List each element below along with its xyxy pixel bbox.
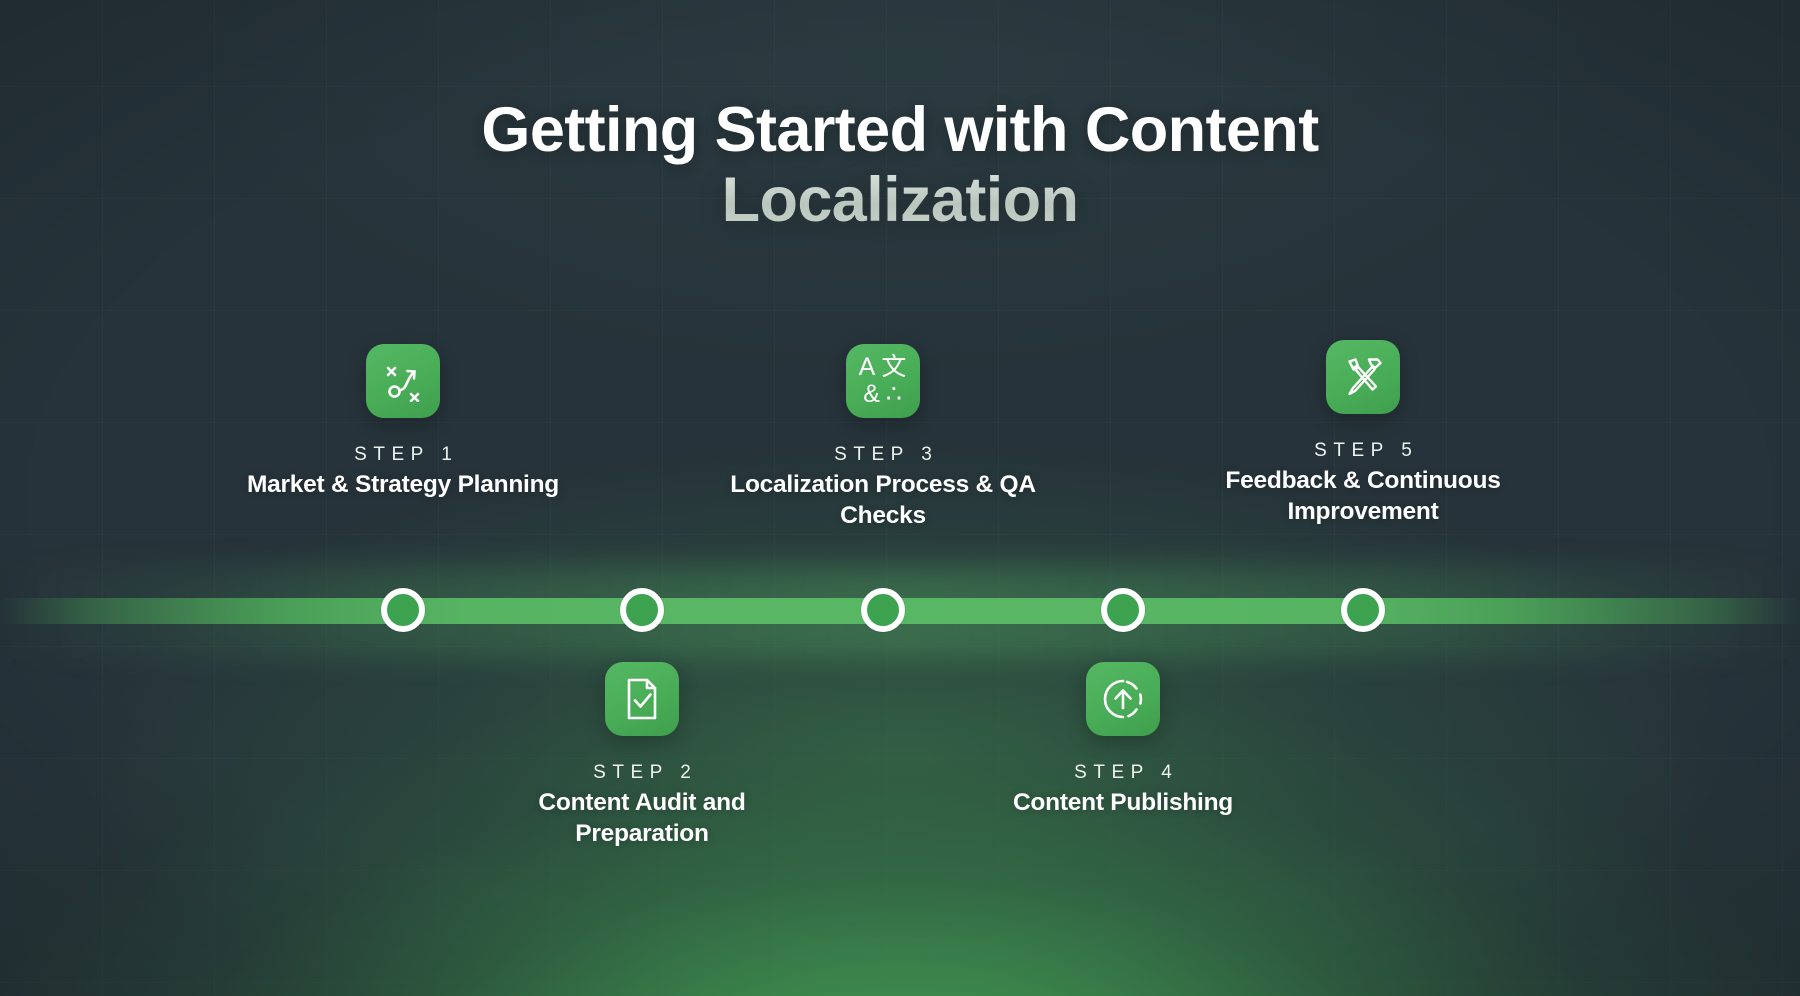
title-line-1: Getting Started with Content bbox=[0, 96, 1800, 164]
step-title-5: Feedback & Continuous Improvement bbox=[1193, 466, 1533, 528]
step-number-2: STEP 2 bbox=[472, 762, 812, 784]
step-title-4: Content Publishing bbox=[953, 788, 1293, 819]
translate-glyph-latin: A bbox=[859, 355, 877, 380]
timeline-node-1[interactable] bbox=[381, 588, 425, 632]
step-number-3: STEP 3 bbox=[713, 444, 1053, 466]
timeline-node-5[interactable] bbox=[1341, 588, 1385, 632]
strategy-play-icon bbox=[366, 344, 440, 418]
step-number-4: STEP 4 bbox=[953, 762, 1293, 784]
crossed-tools-icon bbox=[1326, 340, 1400, 414]
timeline-node-3[interactable] bbox=[861, 588, 905, 632]
translate-glyph-percent: ∴ bbox=[886, 382, 903, 407]
page-title: Getting Started with Content Localizatio… bbox=[0, 96, 1800, 237]
title-line-2: Localization bbox=[0, 164, 1800, 237]
step-item-1[interactable]: STEP 1 Market & Strategy Planning bbox=[233, 344, 573, 501]
timeline-node-2[interactable] bbox=[620, 588, 664, 632]
step-item-3[interactable]: A 文 & ∴ STEP 3 Localization Process & QA… bbox=[713, 344, 1053, 532]
step-title-1: Market & Strategy Planning bbox=[233, 470, 573, 501]
infographic-canvas: Getting Started with Content Localizatio… bbox=[0, 0, 1800, 996]
step-number-5: STEP 5 bbox=[1193, 440, 1533, 462]
step-number-1: STEP 1 bbox=[233, 444, 573, 466]
upload-circle-icon bbox=[1086, 662, 1160, 736]
document-check-icon bbox=[605, 662, 679, 736]
step-item-5[interactable]: STEP 5 Feedback & Continuous Improvement bbox=[1193, 340, 1533, 528]
translate-icon: A 文 & ∴ bbox=[846, 344, 920, 418]
translate-glyph-amp: & bbox=[863, 382, 881, 407]
step-item-4[interactable]: STEP 4 Content Publishing bbox=[953, 662, 1293, 819]
translate-glyph-cjk: 文 bbox=[881, 355, 907, 380]
timeline-node-4[interactable] bbox=[1101, 588, 1145, 632]
step-item-2[interactable]: STEP 2 Content Audit and Preparation bbox=[472, 662, 812, 850]
step-title-2: Content Audit and Preparation bbox=[472, 788, 812, 850]
step-title-3: Localization Process & QA Checks bbox=[713, 470, 1053, 532]
